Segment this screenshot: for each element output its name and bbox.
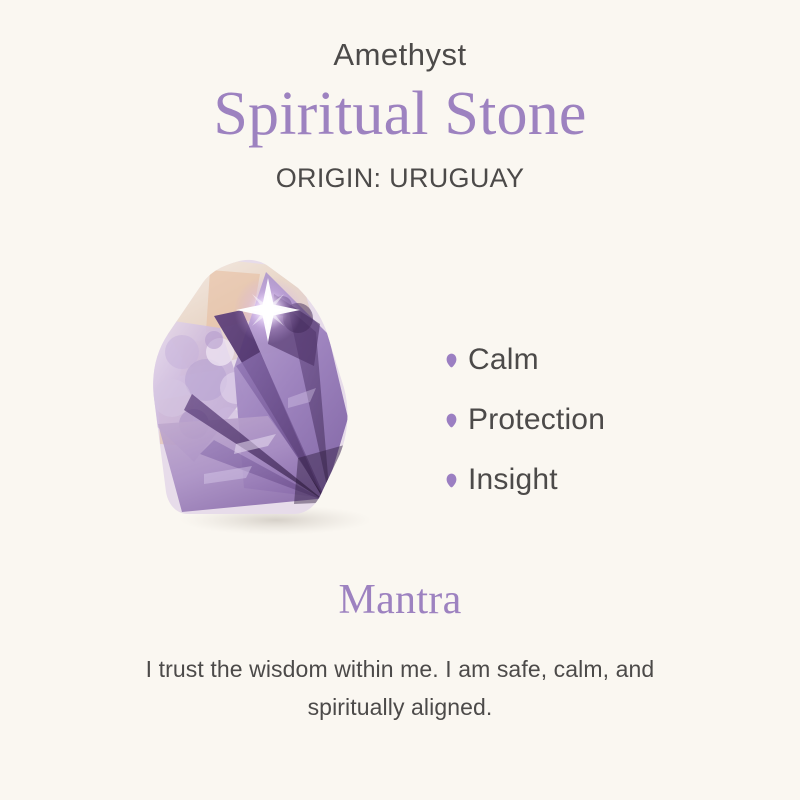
amethyst-illustration	[148, 248, 388, 538]
mantra-heading: Mantra	[0, 575, 800, 625]
middle-section: Calm Protection Insight	[0, 248, 800, 548]
origin-label: ORIGIN: URUGUAY	[0, 163, 800, 194]
card-header: Amethyst Spiritual Stone ORIGIN: URUGUAY	[0, 38, 800, 194]
mantra-body-text: I trust the wisdom within me. I am safe,…	[130, 651, 670, 726]
list-item: Protection	[446, 390, 605, 450]
property-label: Insight	[468, 465, 558, 495]
property-label: Protection	[468, 405, 605, 435]
stone-name-eyebrow: Amethyst	[0, 38, 800, 72]
list-item: Insight	[446, 450, 605, 510]
list-item: Calm	[446, 330, 605, 390]
stone-info-card: Amethyst Spiritual Stone ORIGIN: URUGUAY	[0, 0, 800, 800]
gem-bullet-icon	[446, 413, 457, 428]
mantra-section: Mantra I trust the wisdom within me. I a…	[0, 575, 800, 726]
properties-list: Calm Protection Insight	[446, 330, 605, 510]
amethyst-crystal-icon	[148, 248, 388, 538]
property-label: Calm	[468, 345, 539, 375]
gem-bullet-icon	[446, 473, 457, 488]
gem-bullet-icon	[446, 353, 457, 368]
page-title: Spiritual Stone	[0, 78, 800, 151]
sparkle-icon	[234, 276, 302, 344]
